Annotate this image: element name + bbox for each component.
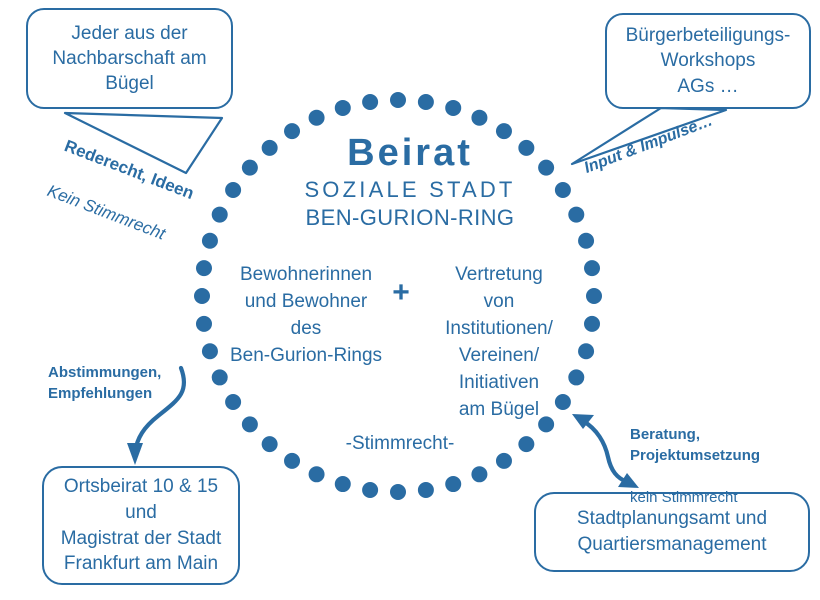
ring-dot xyxy=(335,476,351,492)
caption-abstimmungen-empfehlungen: Abstimmungen, Empfehlungen xyxy=(48,362,161,404)
ring-dot xyxy=(586,288,602,304)
ring-dot xyxy=(242,416,258,432)
ring-dot xyxy=(335,100,351,116)
ring-dot xyxy=(584,316,600,332)
ring-dot xyxy=(309,466,325,482)
ring-dot xyxy=(362,94,378,110)
diagram-canvas: Beirat SOZIALE STADT BEN-GURION-RING Bew… xyxy=(0,0,820,600)
institutions-column-label: Vertretung von Institutionen/ Vereinen/ … xyxy=(420,262,578,424)
ring-dot xyxy=(196,260,212,276)
ring-dot xyxy=(578,343,594,359)
caption-beratung-projektumsetzung: Beratung, Projektumsetzung kein Stimmrec… xyxy=(630,403,760,529)
box-ortsbeirat-magistrat-label: Ortsbeirat 10 & 15 und Magistrat der Sta… xyxy=(61,474,222,577)
ring-dot xyxy=(225,394,241,410)
box-ortsbeirat-magistrat: Ortsbeirat 10 & 15 und Magistrat der Sta… xyxy=(42,466,240,585)
ring-dot xyxy=(445,100,461,116)
caption-beratung-normal: kein Stimmrecht xyxy=(630,487,760,508)
ring-dot xyxy=(390,92,406,108)
ring-dot xyxy=(418,482,434,498)
ring-dot xyxy=(202,233,218,249)
ring-dot xyxy=(418,94,434,110)
ring-dot xyxy=(212,369,228,385)
ring-dot xyxy=(578,233,594,249)
ring-dot xyxy=(518,436,534,452)
caption-beratung-bold: Beratung, Projektumsetzung xyxy=(630,424,760,466)
ring-dot xyxy=(362,482,378,498)
speech-bubble-neighborhood-label: Jeder aus der Nachbarschaft am Bügel xyxy=(52,21,206,97)
arrow-beratung xyxy=(583,421,627,482)
speech-bubble-participation: Bürgerbeteiligungs- Workshops AGs … xyxy=(605,13,811,109)
ring-dot xyxy=(471,110,487,126)
ring-dot xyxy=(202,343,218,359)
ring-dot xyxy=(445,476,461,492)
ring-dot xyxy=(262,436,278,452)
ring-dot xyxy=(390,484,406,500)
voting-rights-note: -Stimmrecht- xyxy=(300,432,500,456)
plus-icon: + xyxy=(386,278,416,308)
ring-dot xyxy=(284,453,300,469)
ring-dot xyxy=(471,466,487,482)
arrow-abstimmungen-head xyxy=(127,443,143,465)
ring-dot xyxy=(309,110,325,126)
ring-dot xyxy=(196,316,212,332)
speech-bubble-participation-label: Bürgerbeteiligungs- Workshops AGs … xyxy=(626,23,791,99)
ring-dot xyxy=(194,288,210,304)
residents-column-label: Bewohnerinnen und Bewohner des Ben-Gurio… xyxy=(218,262,394,370)
speech-bubble-neighborhood: Jeder aus der Nachbarschaft am Bügel xyxy=(26,8,233,109)
ring-dot xyxy=(584,260,600,276)
